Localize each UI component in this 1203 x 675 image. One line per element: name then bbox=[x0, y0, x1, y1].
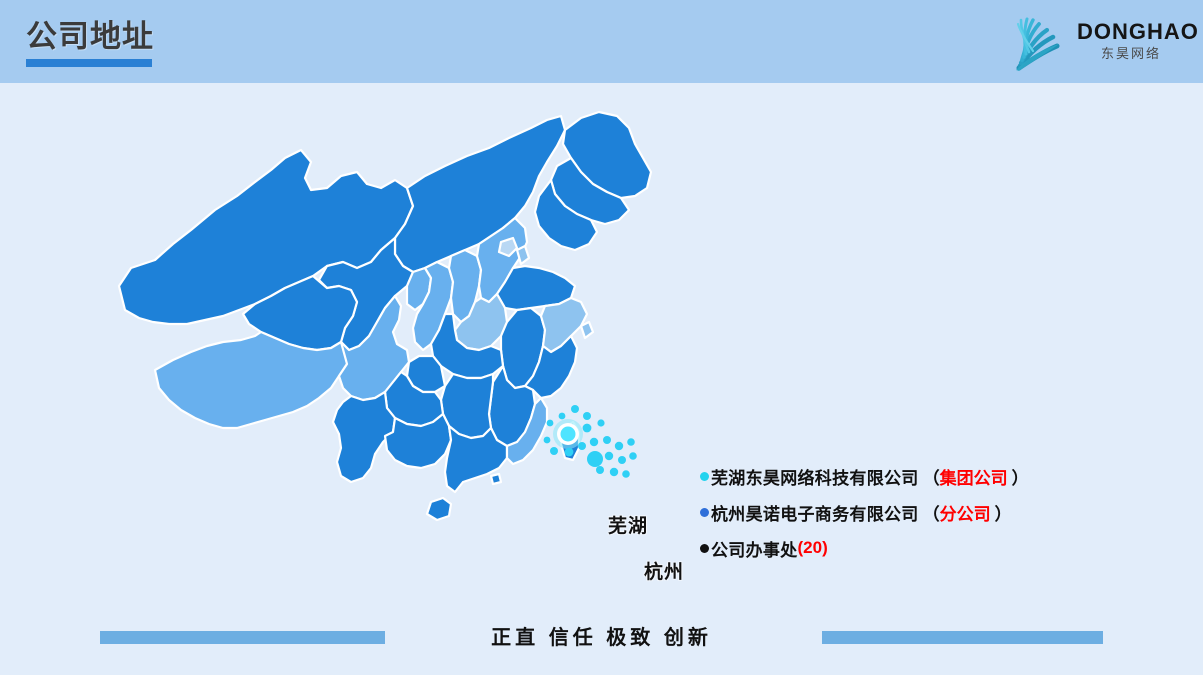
city-label-wuhu: 芜湖 bbox=[608, 511, 648, 538]
province-shanghai bbox=[581, 322, 593, 338]
address-legend: 芜湖东昊网络科技有限公司 （ 集团公司 ） 杭州昊诺电子商务有限公司 （ 分公司… bbox=[700, 458, 1170, 566]
feather-fan-icon bbox=[1013, 8, 1079, 72]
company-logo: DONGHAO 东昊网络 bbox=[1013, 8, 1185, 76]
legend-tag-group: 集团公司 bbox=[940, 464, 1008, 489]
legend-item-branch-company[interactable]: 杭州昊诺电子商务有限公司 （ 分公司 ） bbox=[700, 494, 1170, 530]
legend-bullet-black bbox=[700, 544, 709, 553]
legend-item-group-company[interactable]: 芜湖东昊网络科技有限公司 （ 集团公司 ） bbox=[700, 458, 1170, 494]
logo-subtitle: 东昊网络 bbox=[1077, 45, 1185, 62]
legend-paren-close: ） bbox=[995, 500, 1012, 525]
legend-company-name: 芜湖东昊网络科技有限公司 bbox=[711, 464, 919, 489]
legend-item-offices[interactable]: 公司办事处 (20) bbox=[700, 530, 1170, 566]
slide-header: 公司地址 bbox=[0, 0, 1203, 83]
province-taiwan bbox=[561, 422, 579, 460]
legend-paren-close: ） bbox=[1012, 464, 1029, 489]
province-tianjin bbox=[517, 246, 529, 264]
legend-tag-branch: 分公司 bbox=[940, 500, 991, 525]
slide-footer: 正直 信任 极致 创新 bbox=[0, 626, 1203, 648]
legend-office-label: 公司办事处 bbox=[711, 536, 798, 561]
legend-office-count: (20) bbox=[798, 538, 828, 558]
page-title: 公司地址 bbox=[26, 18, 154, 56]
logo-name: DONGHAO bbox=[1077, 20, 1185, 44]
legend-bullet-cyan bbox=[700, 472, 709, 481]
province-hainan bbox=[427, 498, 451, 520]
title-underline bbox=[26, 59, 152, 67]
province-hongkong bbox=[491, 474, 501, 484]
legend-bullet-blue bbox=[700, 508, 709, 517]
logo-text-block: DONGHAO 东昊网络 bbox=[1077, 20, 1185, 62]
legend-paren-open: （ bbox=[923, 464, 940, 489]
legend-company-name: 杭州昊诺电子商务有限公司 bbox=[711, 500, 919, 525]
china-map[interactable]: 芜湖 杭州 bbox=[95, 110, 715, 610]
city-label-hangzhou: 杭州 bbox=[644, 557, 684, 584]
legend-paren-open: （ bbox=[923, 500, 940, 525]
footer-slogan: 正直 信任 极致 创新 bbox=[0, 626, 1203, 650]
slide-root: 公司地址 bbox=[0, 0, 1203, 675]
title-block: 公司地址 bbox=[26, 18, 154, 67]
